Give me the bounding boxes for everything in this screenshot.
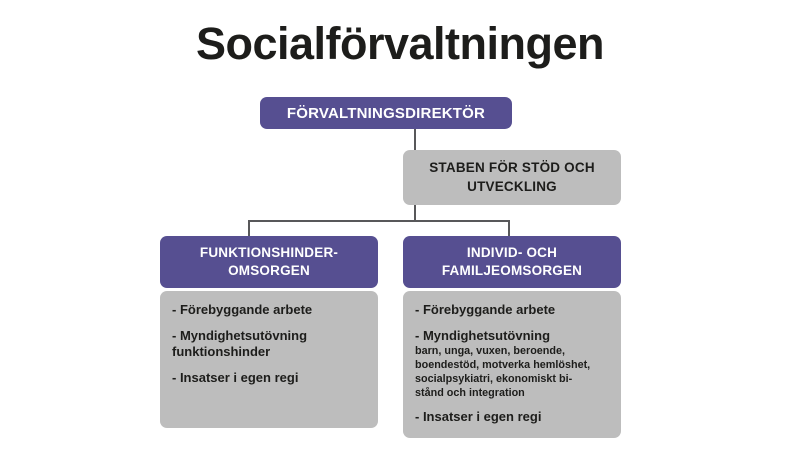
list-item-main: - Myndighetsutövning funktionshinder: [172, 328, 368, 361]
list-item-main: - Myndighetsutövning: [415, 328, 611, 345]
node-forvaltningsdirektor[interactable]: FÖRVALTNINGSDIREKTÖR: [260, 97, 512, 129]
list-item: - Myndighetsutövning barn, unga, vuxen, …: [415, 328, 611, 401]
page-title: Socialförvaltningen: [0, 20, 800, 67]
connector-drop-right: [508, 220, 510, 236]
org-chart: Socialförvaltningen FÖRVALTNINGSDIREKTÖR…: [0, 0, 800, 450]
list-item: - Förebyggande arbete: [172, 302, 368, 319]
connector-split-bar: [248, 220, 510, 222]
list-item: - Insatser i egen regi: [415, 409, 611, 426]
department-header-funktionshinderomsorgen[interactable]: FUNKTIONSHINDER- OMSORGEN: [160, 236, 378, 288]
list-item: - Myndighetsutövning funktionshinder: [172, 328, 368, 361]
department-funktionshinderomsorgen: FUNKTIONSHINDER- OMSORGEN - Förebyggande…: [160, 236, 378, 428]
list-item-main: - Insatser i egen regi: [415, 409, 611, 426]
department-header-individ-och-familjeomsorgen[interactable]: INDIVID- OCH FAMILJEOMSORGEN: [403, 236, 621, 288]
department-body-individ-och-familjeomsorgen: - Förebyggande arbete - Myndighetsutövni…: [403, 291, 621, 438]
list-item: - Insatser i egen regi: [172, 370, 368, 387]
node-staben-for-stod-och-utveckling[interactable]: STABEN FÖR STÖD OCH UTVECKLING: [403, 150, 621, 205]
list-item-main: - Förebyggande arbete: [415, 302, 611, 319]
list-item: - Förebyggande arbete: [415, 302, 611, 319]
list-item-sub: barn, unga, vuxen, beroende, boendestöd,…: [415, 344, 611, 400]
list-item-main: - Insatser i egen regi: [172, 370, 368, 387]
connector-drop-left: [248, 220, 250, 236]
department-body-funktionshinderomsorgen: - Förebyggande arbete - Myndighetsutövni…: [160, 291, 378, 428]
department-individ-och-familjeomsorgen: INDIVID- OCH FAMILJEOMSORGEN - Förebygga…: [403, 236, 621, 438]
list-item-main: - Förebyggande arbete: [172, 302, 368, 319]
